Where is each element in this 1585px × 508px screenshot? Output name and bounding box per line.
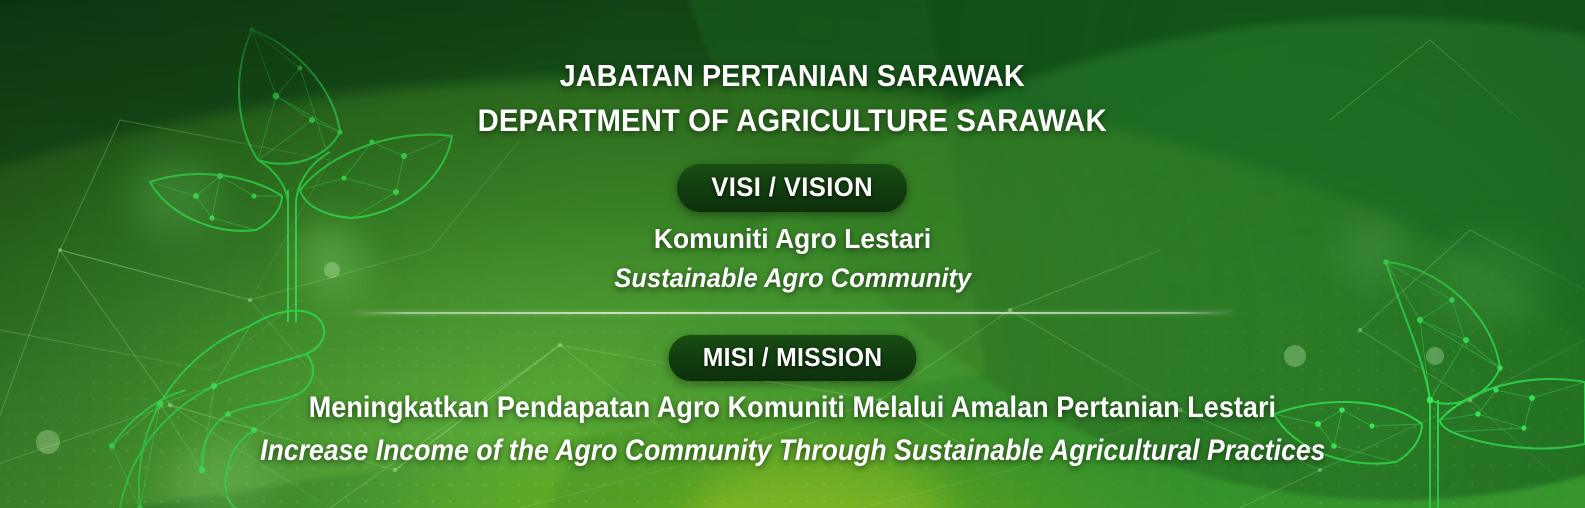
vision-text-en: Sustainable Agro Community xyxy=(614,263,971,294)
vision-mission-banner: JABATAN PERTANIAN SARAWAK DEPARTMENT OF … xyxy=(0,0,1585,508)
mission-text-en: Increase Income of the Agro Community Th… xyxy=(260,434,1325,468)
mission-badge: MISI / MISSION xyxy=(668,335,916,381)
organisation-name-en: DEPARTMENT OF AGRICULTURE SARAWAK xyxy=(478,98,1107,143)
vision-text-ms: Komuniti Agro Lestari xyxy=(654,223,931,255)
mission-text-ms: Meningkatkan Pendapatan Agro Komuniti Me… xyxy=(309,391,1276,425)
organisation-name-ms: JABATAN PERTANIAN SARAWAK xyxy=(478,54,1107,98)
vision-badge: VISI / VISION xyxy=(677,164,907,212)
banner-content: JABATAN PERTANIAN SARAWAK DEPARTMENT OF … xyxy=(0,0,1585,508)
organisation-title: JABATAN PERTANIAN SARAWAK DEPARTMENT OF … xyxy=(478,54,1107,143)
section-divider xyxy=(353,312,1233,314)
